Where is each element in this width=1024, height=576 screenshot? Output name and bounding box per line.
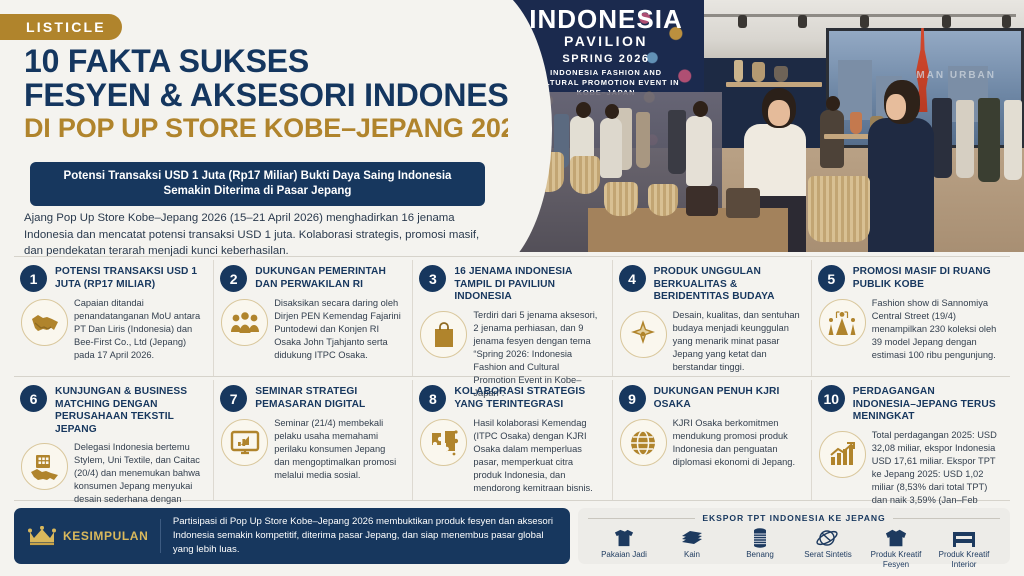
infographic-page: INDONESIA PAVILION SPRING 2026 INDONESIA… xyxy=(0,0,1024,576)
fact-card-1: 1 POTENSI TRANSAKSI USD 1 JUTA (RP17 MIL… xyxy=(14,260,213,376)
card-header: 9 DUKUNGAN PENUH KJRI OSAKA xyxy=(619,384,801,412)
card-body: Disaksikan secara daring oleh Dirjen PEN… xyxy=(220,297,402,362)
card-number-badge: 5 xyxy=(818,265,845,292)
hero-photo: INDONESIA PAVILION SPRING 2026 INDONESIA… xyxy=(508,0,1024,252)
export-item: Benang xyxy=(726,526,794,569)
card-number-badge: 9 xyxy=(619,385,646,412)
card-title: PERDAGANGAN INDONESIA–JEPANG TERUS MENIN… xyxy=(853,384,1000,424)
synthetic-fiber-icon xyxy=(816,526,840,548)
card-header: 8 KOLABORASI STRATEGIS YANG TERINTEGRASI xyxy=(419,384,601,412)
card-header: 1 POTENSI TRANSAKSI USD 1 JUTA (RP17 MIL… xyxy=(20,264,203,292)
rattan-bag-large xyxy=(808,176,870,242)
tshirt-icon xyxy=(614,526,634,548)
export-panel: EKSPOR TPT INDONESIA KE JEPANG Pakaian J… xyxy=(578,508,1010,564)
track-lamp xyxy=(738,15,747,28)
hanging-garment xyxy=(932,98,952,178)
shopper-head xyxy=(576,102,591,118)
hanging-garment xyxy=(636,112,650,168)
monitor-chart-icon xyxy=(221,419,268,466)
card-text: Seminar (21/4) membekali pelaku usaha me… xyxy=(274,417,402,482)
card-body: Hasil kolaborasi Kemendag (ITPC Osaka) d… xyxy=(419,417,601,495)
rattan-bag xyxy=(648,184,678,216)
card-text: Total perdagangan 2025: USD 32,08 miliar… xyxy=(872,429,1000,520)
hanging-garment xyxy=(956,100,974,178)
card-text: Desain, kualitas, dan sentuhan budaya me… xyxy=(673,309,801,374)
card-header: 7 SEMINAR STRATEGI PEMASARAN DIGITAL xyxy=(220,384,402,412)
card-title: SEMINAR STRATEGI PEMASARAN DIGITAL xyxy=(255,384,402,411)
track-lamp xyxy=(860,15,869,28)
globe-icon xyxy=(620,419,667,466)
track-lamp xyxy=(1002,15,1011,28)
people-group-icon xyxy=(221,299,268,346)
card-title: KOLABORASI STRATEGIS YANG TERINTEGRASI xyxy=(454,384,601,411)
card-body: Total perdagangan 2025: USD 32,08 miliar… xyxy=(818,429,1000,520)
card-title: DUKUNGAN PENUH KJRI OSAKA xyxy=(654,384,801,411)
subtitle-bar: Potensi Transaksi USD 1 Juta (Rp17 Milia… xyxy=(30,162,485,206)
card-text: Disaksikan secara daring oleh Dirjen PEN… xyxy=(274,297,402,362)
rule-left xyxy=(588,518,695,519)
title-line-2: FESYEN & AKSESORI INDONESIA xyxy=(24,78,510,112)
title-line-3: DI POP UP STORE KOBE–JEPANG 2026 xyxy=(24,112,510,144)
card-number-badge: 3 xyxy=(419,265,446,292)
card-title: POTENSI TRANSAKSI USD 1 JUTA (RP17 MILIA… xyxy=(55,264,203,291)
decor-vase xyxy=(774,66,788,82)
decor-object xyxy=(850,112,862,134)
card-title: DUKUNGAN PEMERINTAH DAN PERWAKILAN RI xyxy=(255,264,402,291)
export-title: EKSPOR TPT INDONESIA KE JEPANG xyxy=(702,513,885,523)
store-logo: MAN URBAN xyxy=(916,70,996,81)
export-item: Produk Kreatif Fesyen xyxy=(862,526,930,569)
card-header: 6 KUNJUNGAN & BUSINESS MATCHING DENGAN P… xyxy=(20,384,203,436)
card-header: 3 16 JENAMA INDONESIA TAMPIL DI PAVILIUN… xyxy=(419,264,601,304)
background-shopper xyxy=(820,110,844,168)
batik-ornament-icon xyxy=(620,311,667,358)
fabric-stack-icon xyxy=(680,526,704,548)
card-body: Capaian ditandai penandatanganan MoU ant… xyxy=(20,297,203,362)
fact-card-2: 2 DUKUNGAN PEMERINTAH DAN PERWAKILAN RI … xyxy=(213,260,412,376)
hanging-garment xyxy=(978,98,1000,182)
card-title: PROMOSI MASIF DI RUANG PUBLIK KOBE xyxy=(853,264,1000,291)
shopper-head xyxy=(605,104,619,119)
fact-card-4: 4 PRODUK UNGGULAN BERKUALITAS & BERIDENT… xyxy=(612,260,811,376)
export-item-label: Pakaian Jadi xyxy=(601,550,647,560)
card-body: Fashion show di Sannomiya Central Street… xyxy=(818,297,1000,362)
crown-icon xyxy=(28,526,56,546)
fashion-show-icon xyxy=(819,299,866,346)
shopper-face xyxy=(886,94,906,120)
fact-card-6: 6 KUNJUNGAN & BUSINESS MATCHING DENGAN P… xyxy=(14,380,213,500)
export-item: Serat Sintetis xyxy=(794,526,862,569)
export-item: Produk Kreatif Interior xyxy=(930,526,998,569)
title-line-1: 10 FAKTA SUKSES xyxy=(24,44,510,78)
furniture-icon xyxy=(952,526,976,548)
facts-row-1: 1 POTENSI TRANSAKSI USD 1 JUTA (RP17 MIL… xyxy=(14,260,1010,376)
conclusion-text: Partisipasi di Pop Up Store Kobe–Jepang … xyxy=(173,515,556,557)
track-lamp xyxy=(798,15,807,28)
yarn-spool-icon xyxy=(752,526,768,548)
card-body: Seminar (21/4) membekali pelaku usaha me… xyxy=(220,417,402,482)
decor-vase xyxy=(734,60,743,82)
export-item-label: Produk Kreatif Fesyen xyxy=(862,550,930,569)
background-shopper xyxy=(686,116,712,186)
decor-vase xyxy=(752,62,765,82)
card-title: 16 JENAMA INDONESIA TAMPIL DI PAVILIUN I… xyxy=(454,264,601,304)
export-item: Pakaian Jadi xyxy=(590,526,658,569)
card-number-badge: 2 xyxy=(220,265,247,292)
card-text: Hasil kolaborasi Kemendag (ITPC Osaka) d… xyxy=(473,417,601,495)
card-number-badge: 6 xyxy=(20,385,47,412)
fact-card-7: 7 SEMINAR STRATEGI PEMASARAN DIGITAL Sem… xyxy=(213,380,412,500)
export-item-label: Produk Kreatif Interior xyxy=(930,550,998,569)
card-header: 5 PROMOSI MASIF DI RUANG PUBLIK KOBE xyxy=(818,264,1000,292)
business-handshake-icon xyxy=(21,443,68,490)
photo-scene: INDONESIA PAVILION SPRING 2026 INDONESIA… xyxy=(508,0,1024,252)
leather-bag xyxy=(726,188,760,218)
card-body: Desain, kualitas, dan sentuhan budaya me… xyxy=(619,309,801,374)
display-shelf xyxy=(726,82,822,87)
card-body: KJRI Osaka berkomitmen mendukung promosi… xyxy=(619,417,801,469)
foreground-shopper-right xyxy=(868,118,934,252)
conclusion-bar: KESIMPULAN Partisipasi di Pop Up Store K… xyxy=(14,508,570,564)
card-number-badge: 10 xyxy=(818,385,845,412)
card-text: Fashion show di Sannomiya Central Street… xyxy=(872,297,1000,362)
rattan-bag xyxy=(604,182,638,216)
card-header: 10 PERDAGANGAN INDONESIA–JEPANG TERUS ME… xyxy=(818,384,1000,424)
conclusion-label: KESIMPULAN xyxy=(63,529,148,543)
fact-card-9: 9 DUKUNGAN PENUH KJRI OSAKA KJRI Osaka b… xyxy=(612,380,811,500)
intro-paragraph: Ajang Pop Up Store Kobe–Jepang 2026 (15–… xyxy=(24,210,494,260)
listicle-badge: LISTICLE xyxy=(0,14,122,40)
fact-card-5: 5 PROMOSI MASIF DI RUANG PUBLIK KOBE Fas… xyxy=(811,260,1010,376)
export-item-label: Kain xyxy=(684,550,700,560)
puzzle-icon xyxy=(420,419,467,466)
export-header: EKSPOR TPT INDONESIA KE JEPANG xyxy=(588,513,1000,523)
card-title: KUNJUNGAN & BUSINESS MATCHING DENGAN PER… xyxy=(55,384,203,436)
hanging-garment xyxy=(668,110,686,174)
card-header: 4 PRODUK UNGGULAN BERKUALITAS & BERIDENT… xyxy=(619,264,801,304)
card-text: KJRI Osaka berkomitmen mendukung promosi… xyxy=(673,417,801,469)
banner-title: INDONESIA xyxy=(508,4,704,35)
export-items: Pakaian Jadi Kain Benang Serat Sintetis xyxy=(588,526,1000,569)
track-lamp xyxy=(942,15,951,28)
shopper-face xyxy=(768,100,790,126)
facts-grid: 1 POTENSI TRANSAKSI USD 1 JUTA (RP17 MIL… xyxy=(14,260,1010,500)
rule-right xyxy=(893,518,1000,519)
shopper-head xyxy=(826,96,840,111)
hanging-garment xyxy=(1004,100,1022,180)
fact-card-3: 3 16 JENAMA INDONESIA TAMPIL DI PAVILIUN… xyxy=(412,260,611,376)
card-text: Capaian ditandai penandatanganan MoU ant… xyxy=(74,297,203,362)
export-item: Kain xyxy=(658,526,726,569)
city-building xyxy=(838,60,872,120)
card-number-badge: 4 xyxy=(619,265,646,292)
divider-top xyxy=(14,256,1010,257)
card-title: PRODUK UNGGULAN BERKUALITAS & BERIDENTIT… xyxy=(654,264,801,304)
growth-chart-icon xyxy=(819,431,866,478)
shopping-bag-icon xyxy=(420,311,467,358)
handshake-icon xyxy=(21,299,68,346)
card-number-badge: 1 xyxy=(20,265,47,292)
card-number-badge: 7 xyxy=(220,385,247,412)
page-title: 10 FAKTA SUKSES FESYEN & AKSESORI INDONE… xyxy=(24,44,510,144)
background-shopper xyxy=(600,118,622,178)
export-item-label: Serat Sintetis xyxy=(804,550,852,560)
fact-card-8: 8 KOLABORASI STRATEGIS YANG TERINTEGRASI… xyxy=(412,380,611,500)
card-number-badge: 8 xyxy=(419,385,446,412)
rattan-bag xyxy=(570,156,600,194)
conclusion-label-group: KESIMPULAN xyxy=(28,526,160,546)
leather-bag xyxy=(686,186,718,216)
card-header: 2 DUKUNGAN PEMERINTAH DAN PERWAKILAN RI xyxy=(220,264,402,292)
export-item-label: Benang xyxy=(746,550,774,560)
facts-row-2: 6 KUNJUNGAN & BUSINESS MATCHING DENGAN P… xyxy=(14,380,1010,500)
sweater-icon xyxy=(885,526,907,548)
fact-card-10: 10 PERDAGANGAN INDONESIA–JEPANG TERUS ME… xyxy=(811,380,1010,500)
shopper-head xyxy=(693,101,708,117)
